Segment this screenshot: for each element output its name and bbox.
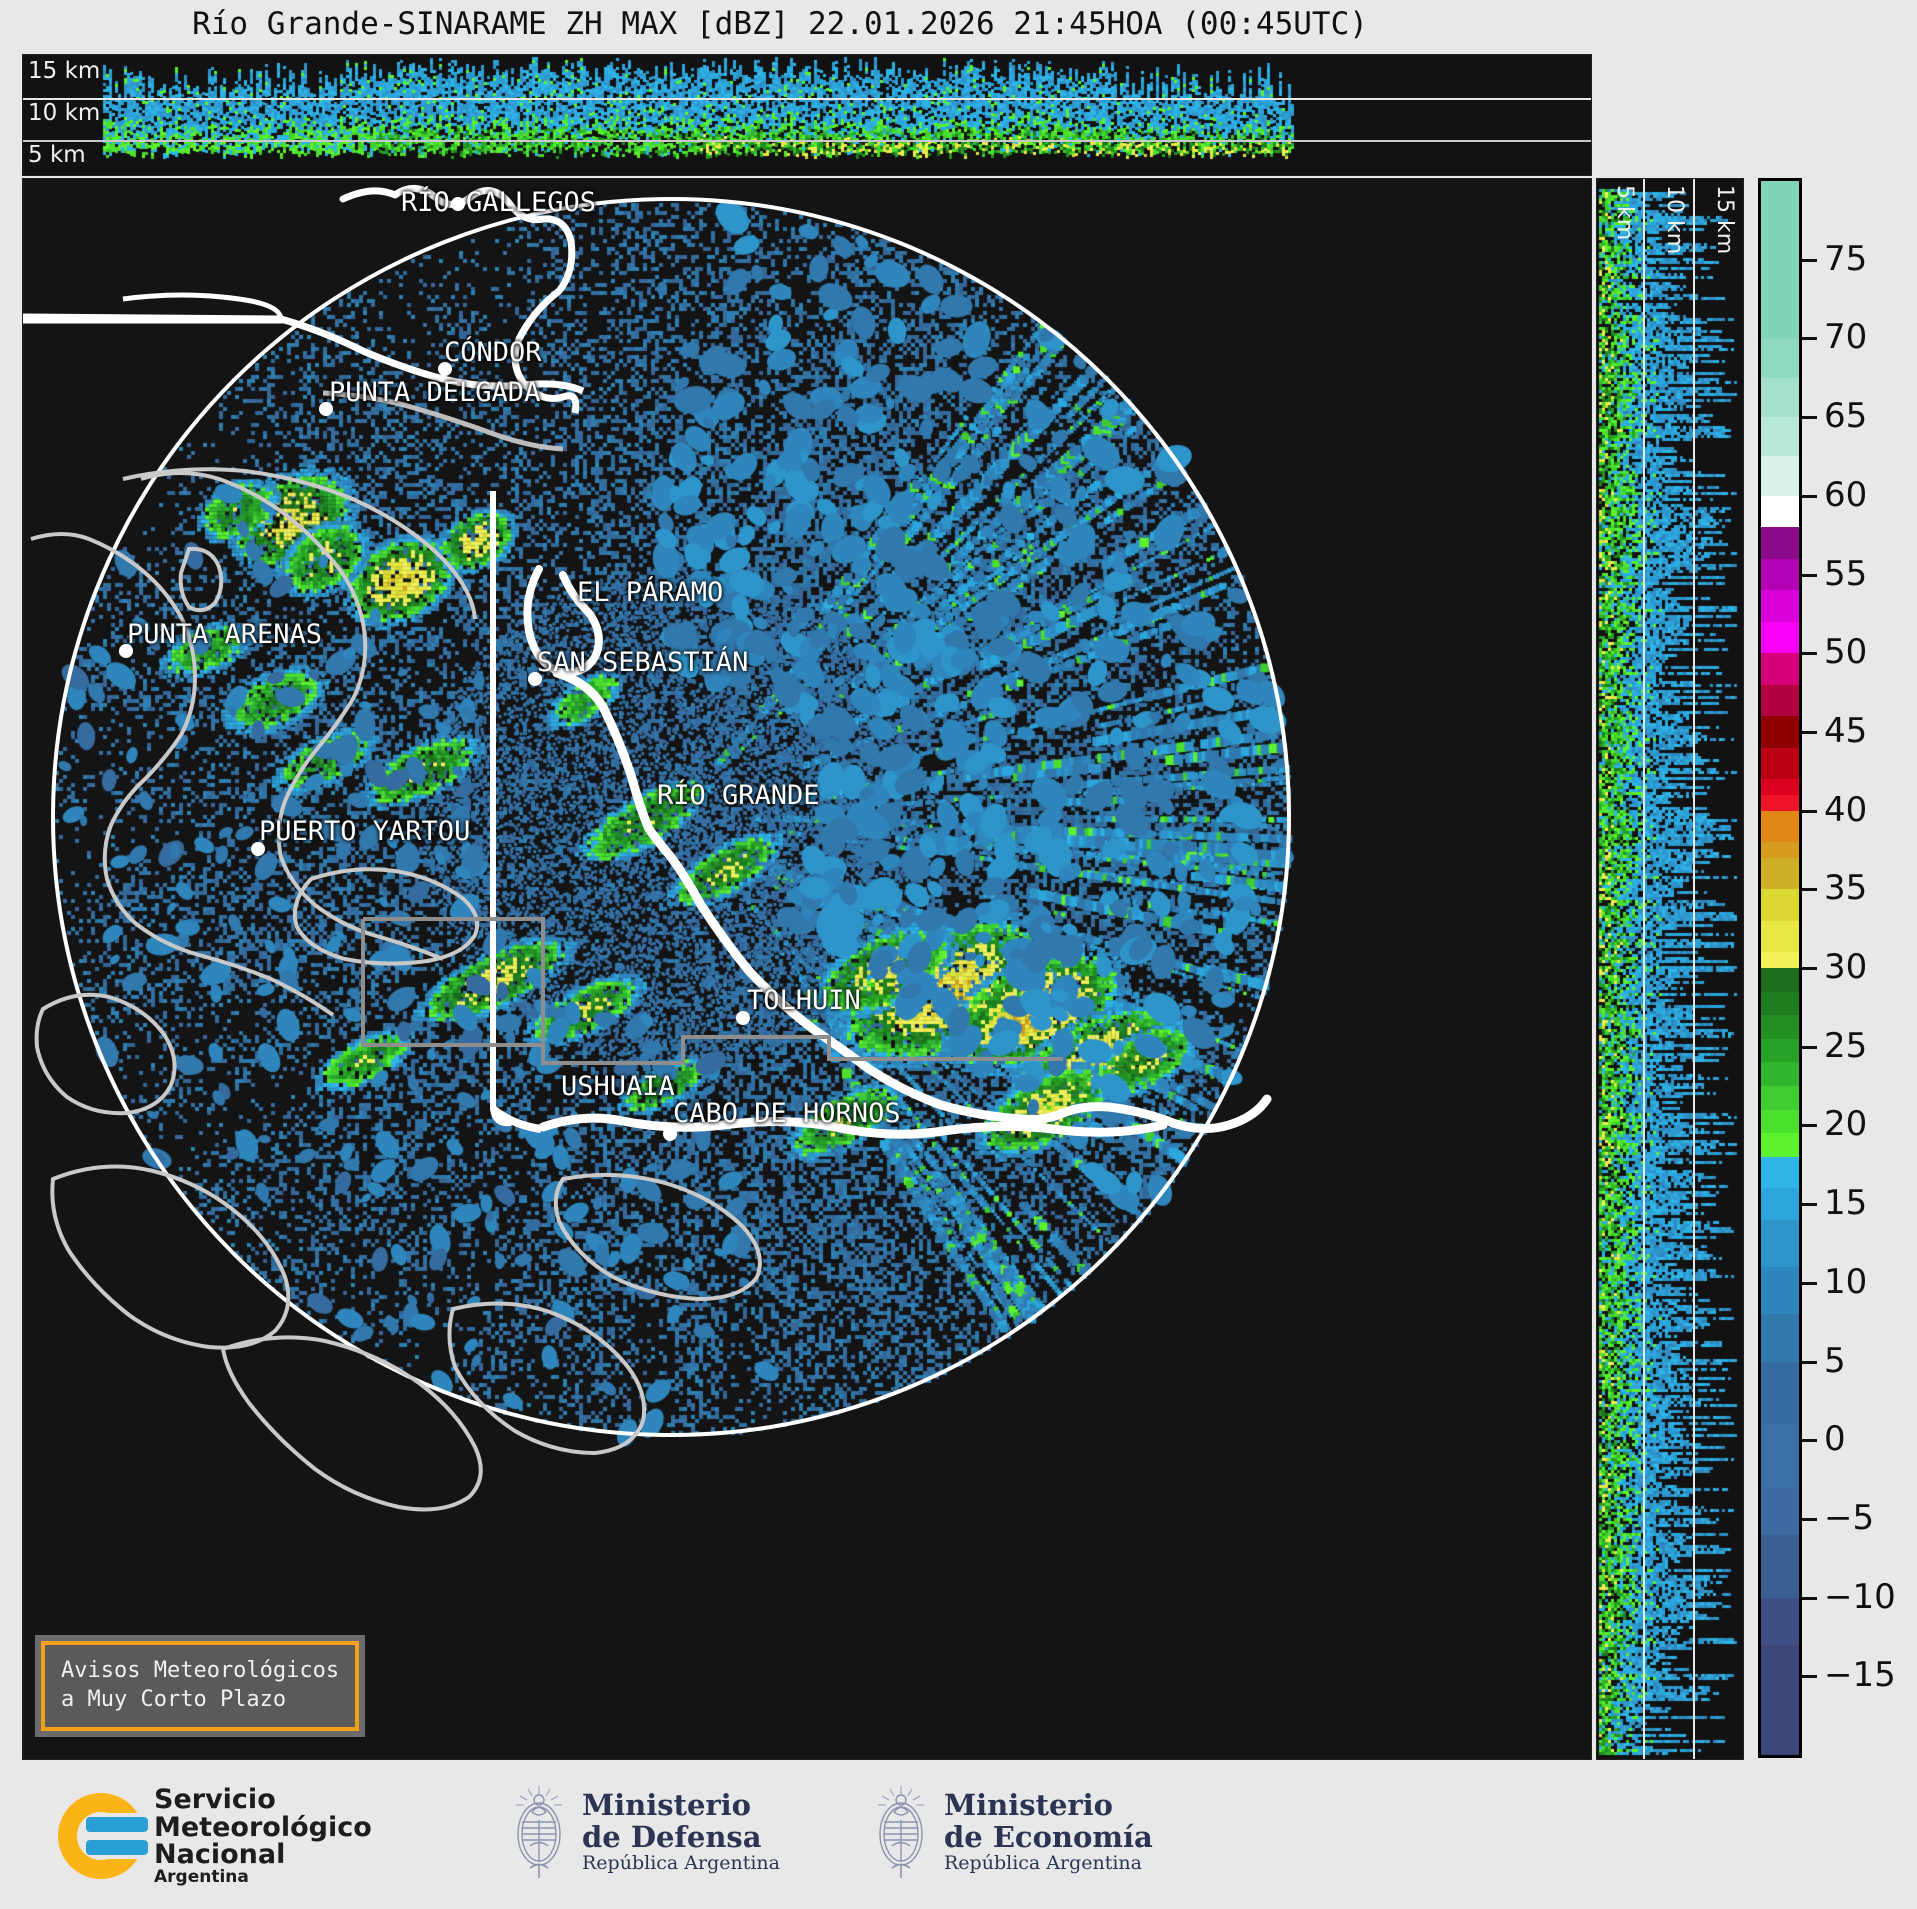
administrative-boundary xyxy=(363,919,1063,1063)
city-marker-dot xyxy=(451,197,465,211)
colorbar-tick-mark xyxy=(1802,495,1817,498)
colorbar-segment xyxy=(1761,1015,1799,1039)
colorbar-segment xyxy=(1761,1133,1799,1157)
colorbar-segment xyxy=(1761,338,1799,378)
colorbar-segment xyxy=(1761,1157,1799,1189)
colorbar-segment xyxy=(1761,1086,1799,1110)
colorbar-tick-label: 5 xyxy=(1824,1341,1846,1381)
colorbar-tick-label: 30 xyxy=(1824,947,1867,987)
coastline-chile-west xyxy=(31,534,333,1015)
defensa-logo-text: Ministerio de Defensa República Argentin… xyxy=(582,1790,780,1873)
colorbar-segment xyxy=(1761,795,1799,811)
colorbar-segment xyxy=(1761,378,1799,418)
warning-box[interactable]: Avisos Meteorológicos a Muy Corto Plazo xyxy=(35,1635,365,1737)
altitude-label-10km: 10 km xyxy=(28,100,100,126)
border-meridian xyxy=(493,491,511,1123)
colorbar-tick-mark xyxy=(1802,1124,1817,1127)
side-cross-section-panel: 5 km 10 km 15 km xyxy=(1596,178,1744,1760)
colorbar-segment xyxy=(1761,811,1799,843)
defensa-line-2: de Defensa xyxy=(582,1822,780,1853)
altitude-label-5km: 5 km xyxy=(28,142,86,168)
colorbar-tick-label: 20 xyxy=(1824,1104,1867,1144)
top-cross-section-echoes xyxy=(23,55,1591,175)
colorbar-tick-mark xyxy=(1802,574,1817,577)
colorbar-segment xyxy=(1761,952,1799,968)
colorbar-tick-label: 55 xyxy=(1824,554,1867,594)
smn-logo-icon xyxy=(58,1793,144,1879)
economia-line-3: República Argentina xyxy=(944,1853,1153,1874)
colorbar-segment xyxy=(1761,779,1799,795)
warning-box-inner: Avisos Meteorológicos a Muy Corto Plazo xyxy=(41,1641,359,1731)
colorbar-tick-mark xyxy=(1802,1675,1817,1678)
defensa-line-1: Ministerio xyxy=(582,1790,780,1821)
colorbar-segment xyxy=(1761,1039,1799,1063)
colorbar-segment xyxy=(1761,748,1799,780)
city-marker-dot xyxy=(438,362,452,376)
colorbar-segment xyxy=(1761,842,1799,858)
colorbar-tick-label: 15 xyxy=(1824,1183,1867,1223)
colorbar-segment xyxy=(1761,685,1799,717)
lake-fagnano xyxy=(295,869,477,963)
smn-line-3: Nacional xyxy=(154,1841,372,1869)
city-marker-dot xyxy=(119,644,133,658)
radar-map-panel: RÍO GALLEGOSCÓNDORPUNTA DELGADAEL PÁRAMO… xyxy=(22,178,1592,1760)
colorbar-tick-mark xyxy=(1802,1439,1817,1442)
city-marker-dot xyxy=(319,402,333,416)
range-line-10km xyxy=(1693,179,1695,1759)
colorbar-tick-label: 75 xyxy=(1824,239,1867,279)
colorbar-segment xyxy=(1761,417,1799,457)
coastline-strait-south xyxy=(123,469,475,619)
colorbar-segment xyxy=(1761,456,1799,496)
colorbar-segment xyxy=(1761,1314,1799,1362)
colorbar-segment xyxy=(1761,653,1799,685)
smn-line-1: Servicio xyxy=(154,1786,372,1814)
side-altitude-label-15km: 15 km xyxy=(1712,185,1737,254)
colorbar-tick-mark xyxy=(1802,652,1817,655)
colorbar-segment xyxy=(1761,1220,1799,1268)
argentina-crest-icon-2 xyxy=(872,1784,930,1880)
colorbar-segment xyxy=(1761,1110,1799,1134)
colorbar-tick-mark xyxy=(1802,967,1817,970)
colorbar-segment xyxy=(1761,1424,1799,1488)
altitude-label-15km: 15 km xyxy=(28,58,100,84)
coastline-rio-gallegos xyxy=(343,188,572,398)
colorbar-segment xyxy=(1761,1062,1799,1086)
colorbar-segment xyxy=(1761,968,1799,992)
colorbar-tick-label: 40 xyxy=(1824,790,1867,830)
island-3 xyxy=(223,1337,481,1509)
colorbar-tick-label: 25 xyxy=(1824,1026,1867,1066)
colorbar-segment xyxy=(1761,1188,1799,1220)
top-cross-section-panel: 15 km 10 km 5 km xyxy=(22,54,1592,176)
colorbar-tick-label: 50 xyxy=(1824,632,1867,672)
economia-line-2: de Economía xyxy=(944,1822,1153,1853)
coastline-strait-north xyxy=(23,317,583,391)
colorbar-tick-mark xyxy=(1802,1597,1817,1600)
colorbar-segment xyxy=(1761,590,1799,622)
colorbar-tick-label: 70 xyxy=(1824,317,1867,357)
city-marker-dot xyxy=(663,1127,677,1141)
colorbar-tick-label: 0 xyxy=(1824,1419,1846,1459)
colorbar-tick-label: −5 xyxy=(1824,1498,1874,1538)
footer-logos: Servicio Meteorológico Nacional Argentin… xyxy=(0,1770,1917,1909)
colorbar-tick-label: 35 xyxy=(1824,868,1867,908)
colorbar-segment xyxy=(1761,1362,1799,1426)
island-2 xyxy=(52,1167,288,1348)
logo-smn: Servicio Meteorológico Nacional Argentin… xyxy=(58,1786,372,1886)
colorbar-segment xyxy=(1761,1267,1799,1315)
radar-product-page: Río Grande-SINARAME ZH MAX [dBZ] 22.01.2… xyxy=(0,0,1917,1909)
colorbar-tick-mark xyxy=(1802,337,1817,340)
logo-ministerio-defensa: Ministerio de Defensa República Argentin… xyxy=(510,1784,780,1880)
colorbar-segment xyxy=(1761,1598,1799,1646)
colorbar xyxy=(1758,178,1802,1758)
smn-logo-text: Servicio Meteorológico Nacional Argentin… xyxy=(154,1786,372,1886)
colorbar-segment xyxy=(1761,1535,1799,1599)
coastline-san-sebastian xyxy=(527,569,598,672)
side-altitude-label-10km: 10 km xyxy=(1662,185,1687,254)
colorbar-segment xyxy=(1761,716,1799,748)
colorbar-tick-label: 60 xyxy=(1824,475,1867,515)
colorbar-tick-label: 65 xyxy=(1824,396,1867,436)
coastline-atlantic xyxy=(557,673,1063,1119)
colorbar-tick-mark xyxy=(1802,888,1817,891)
range-line-5km xyxy=(1643,179,1645,1759)
island-5 xyxy=(556,1175,760,1299)
colorbar-tick-mark xyxy=(1802,416,1817,419)
city-marker-dot xyxy=(528,672,542,686)
warning-line-2: a Muy Corto Plazo xyxy=(61,1685,339,1714)
colorbar-segment xyxy=(1761,559,1799,591)
colorbar-segment xyxy=(1761,889,1799,921)
colorbar-tick-mark xyxy=(1802,1361,1817,1364)
economia-line-1: Ministerio xyxy=(944,1790,1153,1821)
colorbar-tick-mark xyxy=(1802,1203,1817,1206)
smn-line-2: Meteorológico xyxy=(154,1814,372,1842)
coastline-interior xyxy=(141,473,443,959)
colorbar-segment xyxy=(1761,260,1799,339)
island-1 xyxy=(37,995,175,1113)
colorbar-tick-labels: 757065605550454035302520151050−5−10−15 xyxy=(1802,178,1912,1758)
colorbar-tick-label: −10 xyxy=(1824,1577,1896,1617)
argentina-crest-icon xyxy=(510,1784,568,1880)
colorbar-tick-mark xyxy=(1802,1518,1817,1521)
altitude-line-5km xyxy=(23,140,1591,142)
side-cross-section-echoes xyxy=(1597,179,1743,1759)
coastline-beagle xyxy=(543,1118,1163,1134)
side-altitude-label-5km: 5 km xyxy=(1612,185,1637,240)
colorbar-tick-mark xyxy=(1802,1046,1817,1049)
coastline-seg xyxy=(563,396,576,413)
smn-line-4: Argentina xyxy=(154,1869,372,1886)
colorbar-segment xyxy=(1761,992,1799,1016)
warning-line-1: Avisos Meteorológicos xyxy=(61,1656,339,1685)
city-marker-dot xyxy=(736,1011,750,1025)
colorbar-segment xyxy=(1761,1645,1799,1756)
colorbar-segment xyxy=(1761,622,1799,654)
colorbar-tick-mark xyxy=(1802,1282,1817,1285)
colorbar-segment xyxy=(1761,1487,1799,1535)
colorbar-tick-mark xyxy=(1802,259,1817,262)
economia-logo-text: Ministerio de Economía República Argenti… xyxy=(944,1790,1153,1873)
colorbar-tick-label: 45 xyxy=(1824,711,1867,751)
city-marker-dot xyxy=(251,842,265,856)
colorbar-tick-label: 10 xyxy=(1824,1262,1867,1302)
colorbar-segment xyxy=(1761,921,1799,953)
colorbar-segment xyxy=(1761,496,1799,528)
logo-ministerio-economia: Ministerio de Economía República Argenti… xyxy=(872,1784,1153,1880)
coastline-delgada xyxy=(323,393,563,449)
colorbar-tick-mark xyxy=(1802,810,1817,813)
lake-1 xyxy=(181,549,222,610)
colorbar-tick-label: −15 xyxy=(1824,1655,1896,1695)
range-ring xyxy=(53,199,1289,1435)
colorbar-segment xyxy=(1761,181,1799,260)
page-title: Río Grande-SINARAME ZH MAX [dBZ] 22.01.2… xyxy=(0,6,1560,42)
colorbar-segment xyxy=(1761,527,1799,559)
colorbar-segment xyxy=(1761,858,1799,890)
colorbar-tick-mark xyxy=(1802,731,1817,734)
defensa-line-3: República Argentina xyxy=(582,1853,780,1874)
map-overlay-vectors xyxy=(23,179,1591,1759)
altitude-line-10km xyxy=(23,98,1591,100)
